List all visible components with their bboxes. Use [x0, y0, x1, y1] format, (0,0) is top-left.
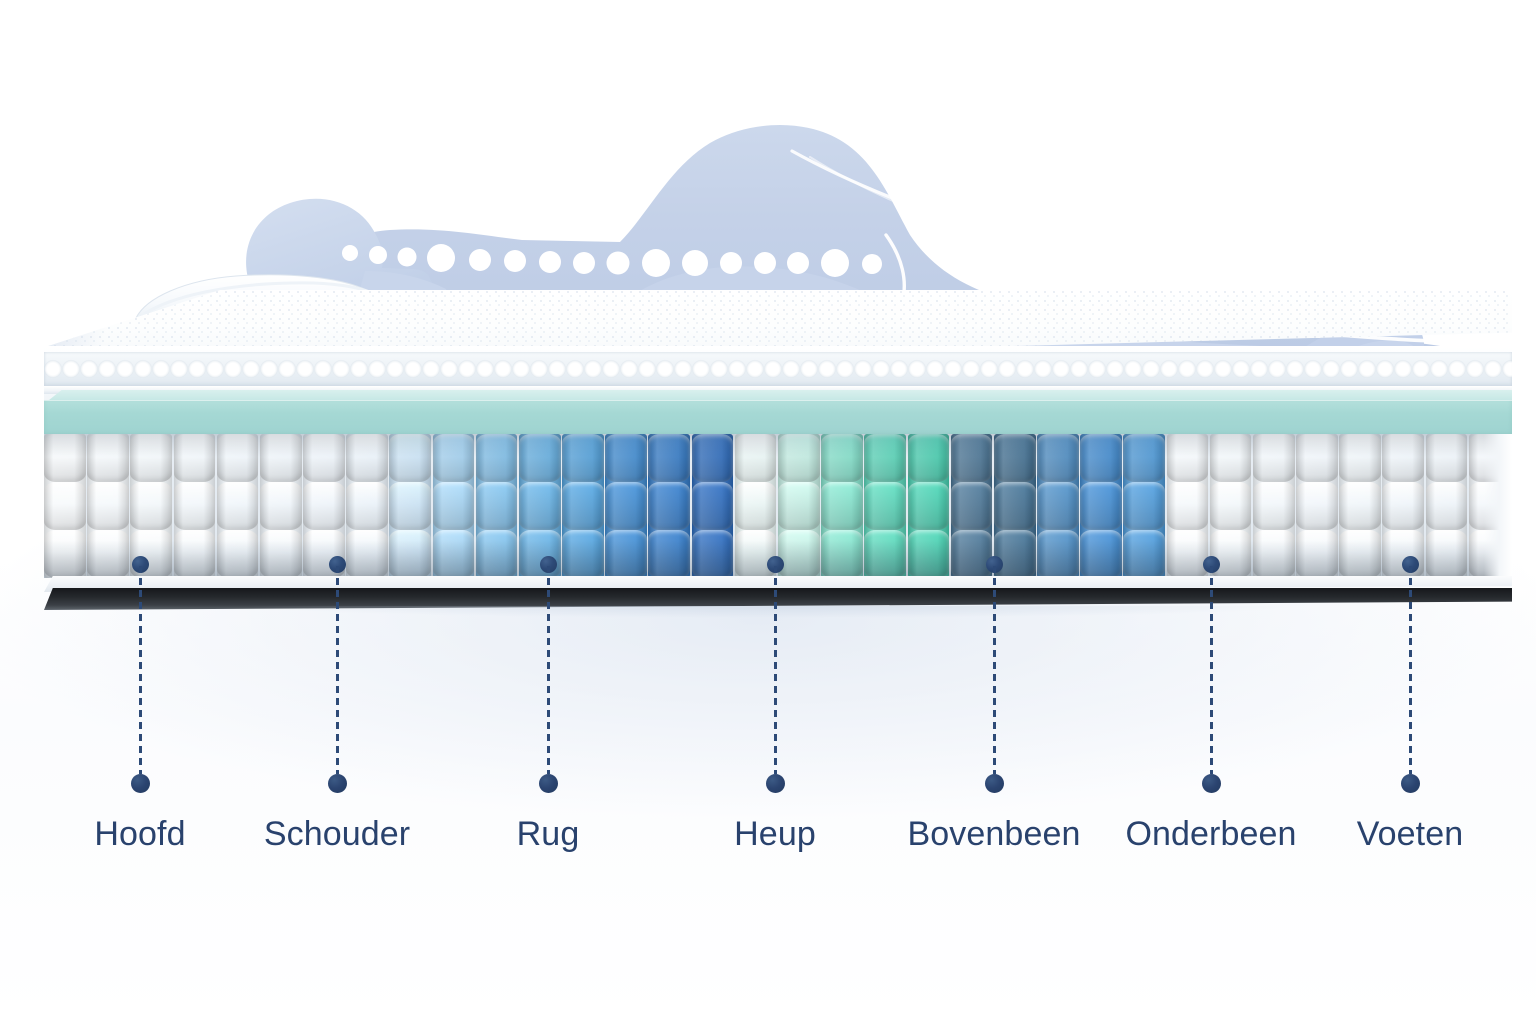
pocket-spring-column — [605, 434, 647, 578]
pocket-spring-column — [562, 434, 604, 578]
zone-label-rug: Rug — [517, 814, 580, 854]
pocket-spring-column — [519, 434, 561, 578]
pocket-spring-column — [217, 434, 259, 578]
spring-coil-segment — [1080, 530, 1122, 578]
spring-coil-segment — [433, 530, 475, 578]
spring-coil-segment — [648, 482, 690, 530]
pocket-spring-column — [1339, 434, 1381, 578]
spring-coil-segment — [864, 482, 906, 530]
spring-coil-segment — [648, 530, 690, 578]
spring-coil-segment — [735, 482, 777, 530]
callout-leader-line — [336, 566, 339, 774]
spring-coil-segment — [994, 482, 1036, 530]
spring-coil-segment — [44, 482, 86, 530]
callout-label-dot — [1202, 774, 1221, 793]
pocket-spring-column — [1253, 434, 1295, 578]
pocket-spring-column — [389, 434, 431, 578]
spring-coil-segment — [44, 530, 86, 578]
spring-coil-segment — [908, 482, 950, 530]
spring-coil-segment — [562, 482, 604, 530]
spring-coil-segment — [217, 482, 259, 530]
spring-coil-segment — [519, 434, 561, 482]
zone-label-bovenbeen: Bovenbeen — [908, 814, 1081, 854]
spring-coil-segment — [1253, 482, 1295, 530]
spring-coil-segment — [433, 482, 475, 530]
spring-coil-segment — [1123, 434, 1165, 482]
spring-coil-segment — [1167, 434, 1209, 482]
spring-coil-segment — [951, 434, 993, 482]
spring-coil-segment — [605, 530, 647, 578]
spring-coil-segment — [1339, 434, 1381, 482]
spring-coil-segment — [821, 434, 863, 482]
pocket-spring-column — [87, 434, 129, 578]
spring-coil-segment — [87, 530, 129, 578]
spring-coil-segment — [1426, 530, 1468, 578]
spring-coil-segment — [951, 530, 993, 578]
spring-coil-segment — [1426, 482, 1468, 530]
spring-coil-segment — [692, 482, 734, 530]
spring-coil-segment — [1123, 482, 1165, 530]
spring-coil-segment — [562, 530, 604, 578]
spring-coil-segment — [519, 482, 561, 530]
spring-coil-segment — [951, 482, 993, 530]
pocket-spring-column — [1037, 434, 1079, 578]
callout-label-dot — [539, 774, 558, 793]
pocket-spring-column — [951, 434, 993, 578]
spring-coil-segment — [1210, 434, 1252, 482]
spring-coil-segment — [908, 530, 950, 578]
callout-leader-line — [1210, 566, 1213, 774]
pocket-spring-column — [908, 434, 950, 578]
pocket-spring-column — [346, 434, 388, 578]
spring-coil-segment — [1080, 482, 1122, 530]
spring-coil-segment — [217, 434, 259, 482]
spring-coil-segment — [692, 434, 734, 482]
spring-coil-segment — [605, 482, 647, 530]
spring-coil-segment — [1382, 530, 1424, 578]
spring-coil-segment — [864, 530, 906, 578]
pocket-spring-column — [1296, 434, 1338, 578]
spring-coil-segment — [476, 434, 518, 482]
pocket-spring-column — [864, 434, 906, 578]
zone-label-hoofd: Hoofd — [94, 814, 185, 854]
spring-coil-segment — [130, 482, 172, 530]
pocket-spring-column — [174, 434, 216, 578]
spring-coil-segment — [821, 530, 863, 578]
pocket-spring-column — [260, 434, 302, 578]
pocket-spring-column — [433, 434, 475, 578]
spring-coil-segment — [778, 434, 820, 482]
callout-label-dot — [1401, 774, 1420, 793]
callout-label-dot — [766, 774, 785, 793]
spring-coil-segment — [174, 530, 216, 578]
spring-coil-segment — [1253, 530, 1295, 578]
spring-coil-segment — [735, 434, 777, 482]
pocket-spring-column — [821, 434, 863, 578]
spring-coil-segment — [303, 482, 345, 530]
spring-coil-segment — [174, 434, 216, 482]
spring-coil-segment — [130, 434, 172, 482]
callout-label-dot — [131, 774, 150, 793]
spring-coil-segment — [1167, 482, 1209, 530]
spring-coil-segment — [44, 434, 86, 482]
spring-coil-segment — [1296, 482, 1338, 530]
spring-coil-segment — [87, 482, 129, 530]
spring-coil-segment — [994, 434, 1036, 482]
spring-coil-segment — [1037, 530, 1079, 578]
spring-coil-segment — [605, 434, 647, 482]
spring-coil-segment — [1037, 434, 1079, 482]
zone-label-voeten: Voeten — [1357, 814, 1464, 854]
mattress-zone-diagram: HoofdSchouderRugHeupBovenbeenOnderbeenVo… — [0, 0, 1536, 1024]
spring-coil-segment — [821, 482, 863, 530]
spring-coil-segment — [1426, 434, 1468, 482]
spring-coil-segment — [1167, 530, 1209, 578]
pocket-spring-column — [1123, 434, 1165, 578]
callout-leader-line — [774, 566, 777, 774]
spring-coil-segment — [1339, 530, 1381, 578]
pocket-spring-column — [1167, 434, 1209, 578]
pocket-spring-column — [692, 434, 734, 578]
pocket-spring-column — [1426, 434, 1468, 578]
spring-coil-segment — [1253, 434, 1295, 482]
pocket-spring-column — [44, 434, 86, 578]
comfort-foam-layer — [44, 400, 1512, 436]
spring-coil-segment — [562, 434, 604, 482]
spring-coil-segment — [1080, 434, 1122, 482]
mattress — [44, 290, 1512, 590]
pocket-spring-column — [648, 434, 690, 578]
spring-coil-segment — [174, 482, 216, 530]
pocket-spring-column — [476, 434, 518, 578]
callout-leader-line — [1409, 566, 1412, 774]
zone-label-heup: Heup — [734, 814, 816, 854]
zone-label-onderbeen: Onderbeen — [1125, 814, 1296, 854]
spring-coil-segment — [778, 530, 820, 578]
pocket-spring-column — [994, 434, 1036, 578]
spring-coil-segment — [346, 482, 388, 530]
spring-coil-segment — [389, 530, 431, 578]
cover-scallop-band — [44, 352, 1512, 386]
spring-coil-segment — [648, 434, 690, 482]
spring-core-right-edge — [1484, 434, 1512, 578]
callout-label-dot — [985, 774, 1004, 793]
spring-coil-segment — [260, 434, 302, 482]
spring-coil-segment — [476, 482, 518, 530]
spring-coil-segment — [260, 530, 302, 578]
spring-coil-segment — [1339, 482, 1381, 530]
spring-coil-segment — [389, 482, 431, 530]
spring-coil-segment — [433, 434, 475, 482]
spring-coil-segment — [260, 482, 302, 530]
spring-coil-segment — [1123, 530, 1165, 578]
spring-coil-segment — [389, 434, 431, 482]
spring-coil-segment — [864, 434, 906, 482]
spring-coil-segment — [908, 434, 950, 482]
pocket-spring-column — [1080, 434, 1122, 578]
pocket-spring-column — [1382, 434, 1424, 578]
callout-leader-line — [993, 566, 996, 774]
spring-coil-segment — [87, 434, 129, 482]
spring-coil-segment — [1296, 530, 1338, 578]
zone-label-schouder: Schouder — [264, 814, 410, 854]
spring-coil-segment — [778, 482, 820, 530]
spring-coil-segment — [692, 530, 734, 578]
spring-coil-segment — [476, 530, 518, 578]
spring-coil-segment — [303, 434, 345, 482]
spring-coil-segment — [346, 434, 388, 482]
spring-coil-segment — [1382, 482, 1424, 530]
spring-coil-segment — [217, 530, 259, 578]
spring-coil-segment — [1296, 434, 1338, 482]
spring-coil-segment — [1037, 482, 1079, 530]
callout-leader-line — [547, 566, 550, 774]
callout-label-dot — [328, 774, 347, 793]
callout-leader-line — [139, 566, 142, 774]
spring-coil-segment — [1382, 434, 1424, 482]
spring-coil-segment — [1210, 482, 1252, 530]
pocket-spring-column — [778, 434, 820, 578]
spring-coil-segment — [346, 530, 388, 578]
